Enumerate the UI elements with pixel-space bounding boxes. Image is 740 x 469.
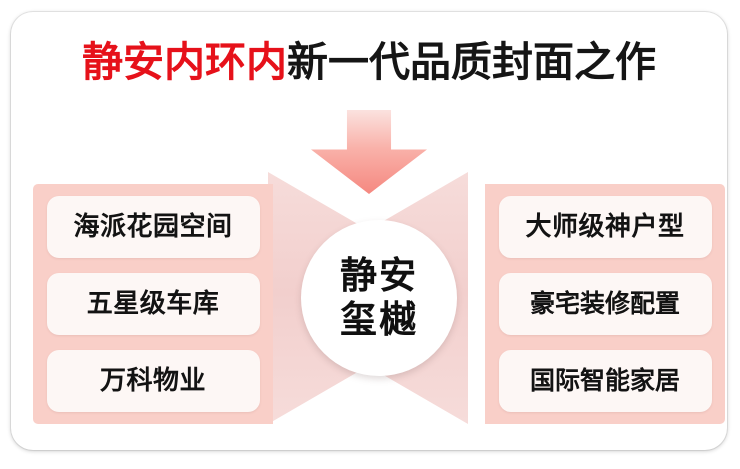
feature-label: 万科物业 (100, 366, 206, 396)
feature-label: 国际智能家居 (530, 366, 680, 396)
feature-label: 大师级神户型 (525, 212, 684, 242)
headline-highlight: 静安内环内 (82, 38, 287, 86)
list-item: 海派花园空间 (47, 196, 260, 258)
project-name-line-1: 静安 (340, 254, 418, 298)
feature-label: 豪宅装修配置 (530, 289, 680, 319)
page-title: 静安内环内新一代品质封面之作 (11, 38, 727, 86)
list-item: 万科物业 (47, 350, 260, 412)
left-feature-panel: 海派花园空间 五星级车库 万科物业 (33, 184, 273, 424)
project-name-line-2: 玺樾 (340, 298, 418, 342)
list-item: 大师级神户型 (499, 196, 712, 258)
list-item: 国际智能家居 (499, 350, 712, 412)
feature-label: 海派花园空间 (73, 212, 232, 242)
list-item: 五星级车库 (47, 273, 260, 335)
feature-label: 五星级车库 (87, 289, 220, 319)
promo-card: 静安内环内新一代品质封面之作 海派花园空间 五星级车库 万科物业 大师级神户型 … (11, 12, 727, 450)
list-item: 豪宅装修配置 (499, 273, 712, 335)
right-feature-panel: 大师级神户型 豪宅装修配置 国际智能家居 (485, 184, 725, 424)
project-name-badge: 静安 玺樾 (301, 220, 457, 376)
headline-rest: 新一代品质封面之作 (287, 38, 656, 86)
